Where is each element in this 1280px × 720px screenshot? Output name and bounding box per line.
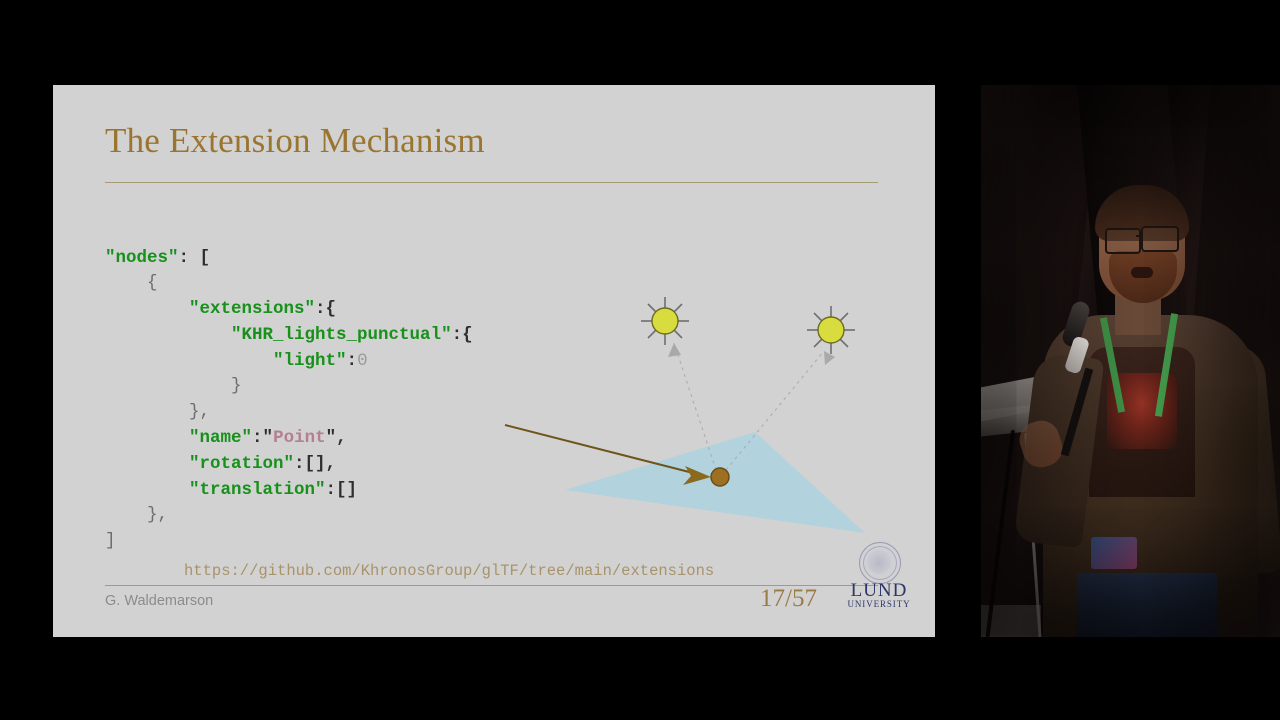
code-token — [105, 325, 231, 345]
code-token: "extensions" — [189, 299, 315, 319]
code-token: :{ — [315, 299, 336, 319]
code-token — [105, 351, 273, 371]
code-token: }, — [105, 505, 168, 525]
light-sun-right — [807, 306, 855, 354]
code-token: "rotation" — [189, 454, 294, 474]
code-token: "nodes" — [105, 248, 179, 268]
screen: The Extension Mechanism "nodes": [ { "ex… — [0, 0, 1280, 720]
code-token: : — [252, 428, 263, 448]
code-token: : [ — [179, 248, 211, 268]
code-token: "light" — [273, 351, 347, 371]
triangle-surface — [565, 432, 865, 533]
code-token: :{ — [452, 325, 473, 345]
title-divider — [105, 182, 878, 183]
code-token: } — [105, 376, 242, 396]
code-token: ] — [105, 531, 116, 551]
presentation-slide: The Extension Mechanism "nodes": [ { "ex… — [53, 85, 935, 637]
code-token — [105, 454, 189, 474]
light-ray-right — [726, 351, 824, 470]
light-sun-left — [641, 297, 689, 345]
code-token: "translation" — [189, 480, 326, 500]
code-token: "name" — [189, 428, 252, 448]
light-ray-right-arrowhead — [824, 351, 835, 365]
code-token: :[] — [326, 480, 358, 500]
code-token: "KHR_lights_punctual" — [231, 325, 452, 345]
source-url[interactable]: https://github.com/KhronosGroup/glTF/tre… — [184, 562, 714, 580]
code-token: ", — [326, 428, 347, 448]
light-ray-left — [674, 343, 716, 470]
light-ray-lines — [674, 343, 824, 470]
code-token: Point — [273, 428, 326, 448]
code-token — [105, 299, 189, 319]
code-token — [105, 428, 189, 448]
lund-university-logo: LUND UNIVERSITY — [840, 542, 918, 610]
light-ray-left-arrowhead — [668, 343, 681, 357]
code-token: :[], — [294, 454, 336, 474]
code-token — [105, 480, 189, 500]
video-vignette — [981, 85, 1280, 637]
footer-author: G. Waldemarson — [105, 593, 213, 609]
code-token: }, — [105, 402, 210, 422]
code-token: 0 — [357, 351, 368, 371]
code-token: { — [105, 273, 158, 293]
code-token: " — [263, 428, 274, 448]
light-point-marker — [711, 468, 729, 486]
code-token: : — [347, 351, 358, 371]
logo-subtitle: UNIVERSITY — [840, 599, 918, 609]
speaker-video — [981, 85, 1280, 637]
json-code-block: "nodes": [ { "extensions":{ "KHR_lights_… — [105, 246, 473, 556]
page-title: The Extension Mechanism — [105, 121, 485, 161]
logo-name: LUND — [840, 581, 918, 601]
pointer-arrow — [505, 425, 711, 485]
page-number: 17/57 — [760, 585, 817, 613]
lund-seal-icon — [859, 542, 901, 584]
